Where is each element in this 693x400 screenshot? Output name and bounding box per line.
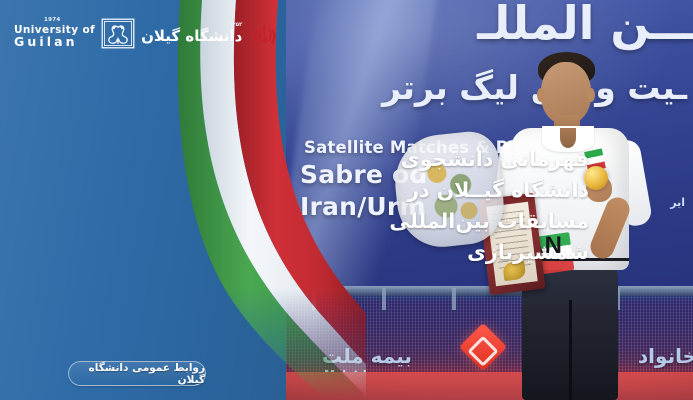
athlete-ear <box>537 88 545 102</box>
headline-line-3: مسابقات بین‌المللی <box>364 206 589 237</box>
logo-english-text: 1974 University of Guilan <box>14 18 95 48</box>
headline-line-2: دانشگاه گیــلان در <box>364 175 589 206</box>
athlete-ear <box>587 88 595 102</box>
public-relations-badge[interactable]: روابط عمومی دانشگاه گیلان <box>68 361 206 386</box>
leg-separation <box>569 300 572 400</box>
logo-persian-text: ۱۳۵۲ دانشگاه گیلان <box>141 23 242 45</box>
public-relations-badge-label: روابط عمومی دانشگاه گیلان <box>69 362 205 386</box>
logo-persian-name: دانشگاه گیلان <box>141 29 242 44</box>
university-of-guilan-logo[interactable]: 1974 University of Guilan ۱۳۵۲ دانشگاه گ… <box>14 18 242 49</box>
news-banner: ـــن المللـ ـیت و نال لیگ برتر Satellite… <box>0 0 693 400</box>
headline-line-1: قهرمانی دانشجوی <box>364 144 589 175</box>
headline-line-4: شمشیربازی <box>364 237 589 268</box>
page-title: قهرمانی دانشجوی دانشگاه گیــلان در مسابق… <box>364 144 589 269</box>
guilan-crest-icon <box>101 18 135 49</box>
logo-english-line2: Guilan <box>14 36 95 49</box>
left-blue-panel <box>0 0 330 400</box>
